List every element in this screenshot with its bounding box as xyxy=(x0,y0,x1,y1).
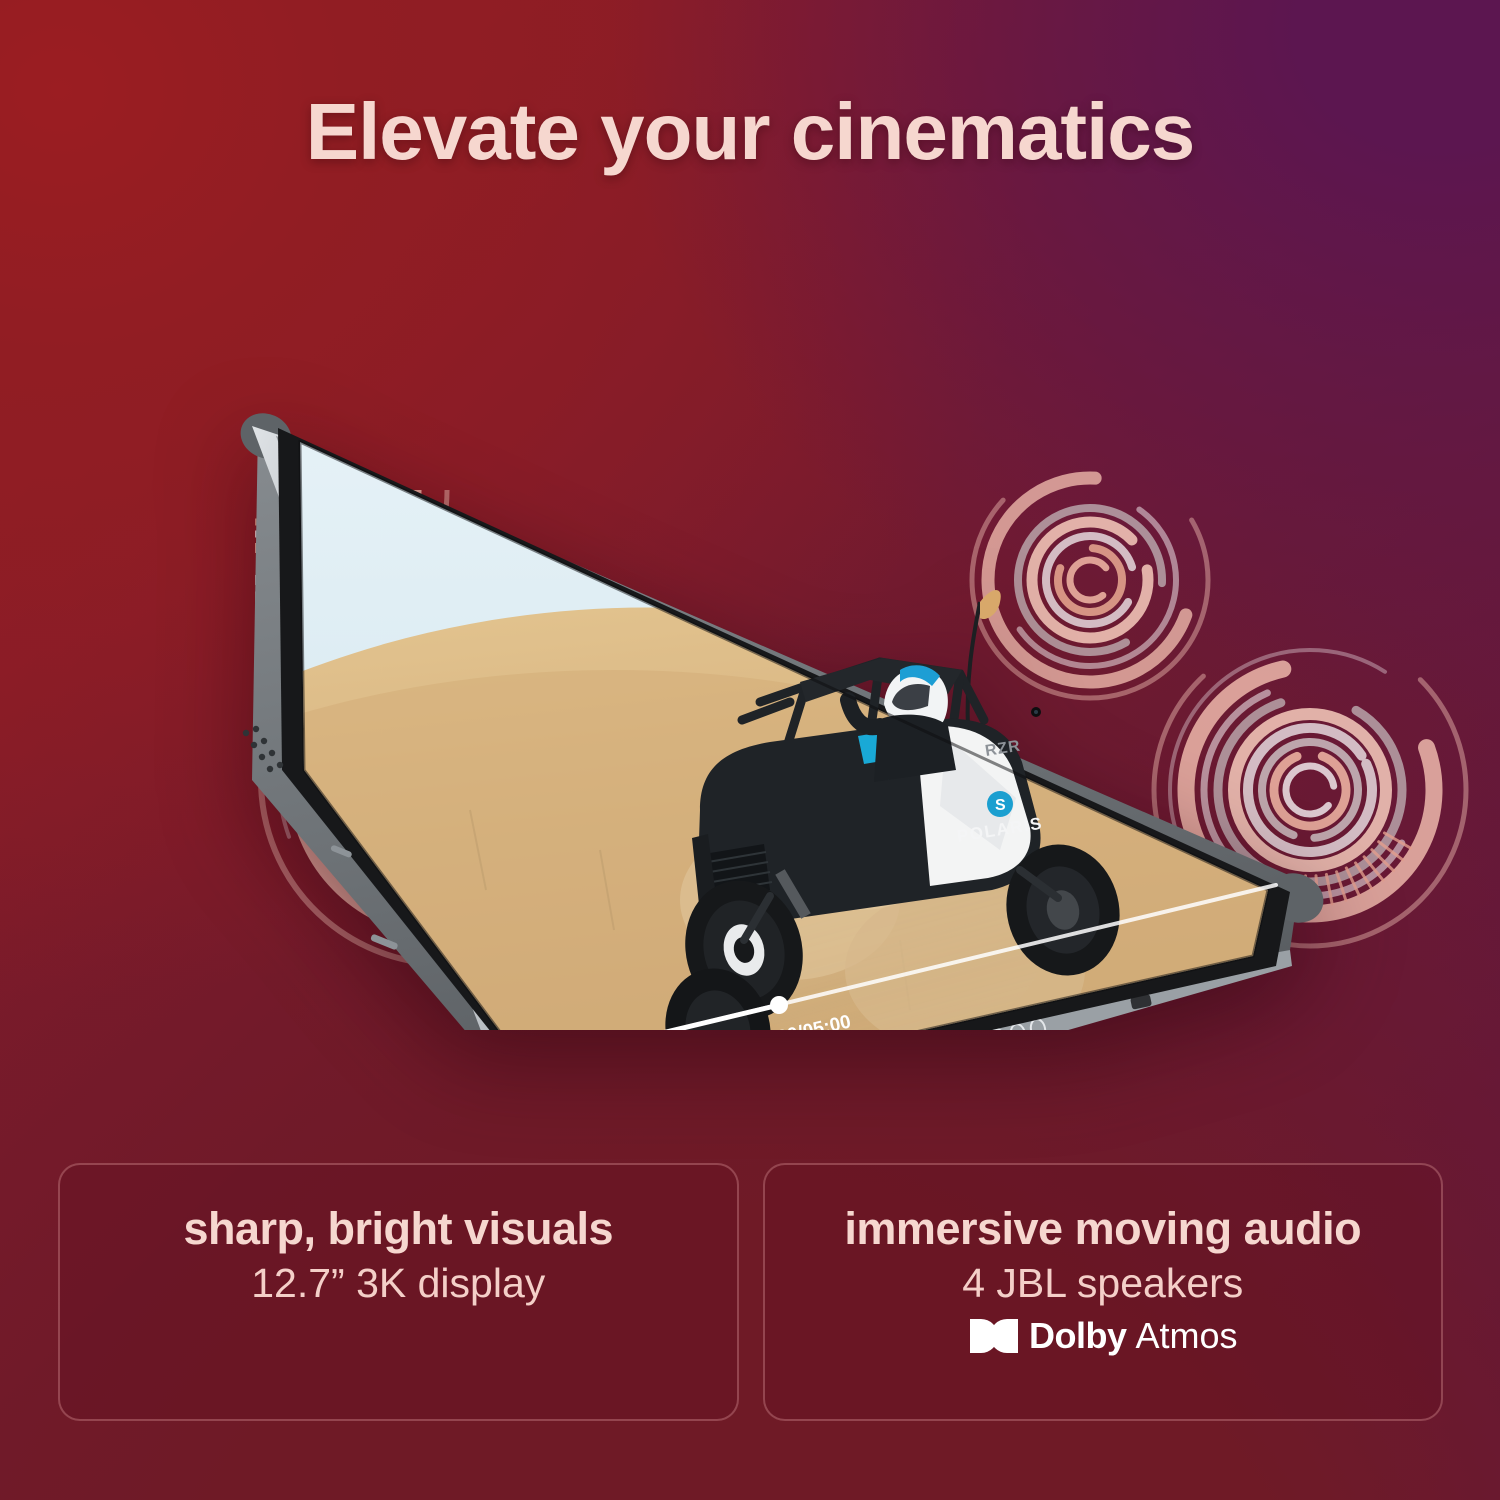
feature-box-display: sharp, bright visuals 12.7” 3K display xyxy=(58,1163,739,1421)
page-title: Elevate your cinematics xyxy=(0,86,1500,178)
feature-box-audio: immersive moving audio 4 JBL speakers Do… xyxy=(763,1163,1444,1421)
feature-boxes: sharp, bright visuals 12.7” 3K display i… xyxy=(58,1163,1443,1421)
antenna-flag xyxy=(980,590,1001,619)
feature-title-display: sharp, bright visuals xyxy=(183,1205,613,1254)
feature-subtitle-audio: 4 JBL speakers xyxy=(962,1258,1243,1309)
dolby-wordmark: Dolby xyxy=(1029,1315,1127,1357)
feature-subtitle-display: 12.7” 3K display xyxy=(251,1258,545,1309)
marketing-banner: Elevate your cinematics xyxy=(0,0,1500,1500)
tablet-device: POLARIS RZR S xyxy=(0,250,1500,1030)
dolby-double-d-icon xyxy=(968,1318,1020,1354)
svg-text:S: S xyxy=(995,797,1006,814)
hero-composition: POLARIS RZR S xyxy=(0,250,1500,1030)
atmos-wordmark: Atmos xyxy=(1135,1315,1237,1357)
dolby-atmos-logo: Dolby Atmos xyxy=(968,1315,1238,1357)
progress-thumb xyxy=(770,996,788,1014)
feature-title-audio: immersive moving audio xyxy=(844,1205,1361,1254)
